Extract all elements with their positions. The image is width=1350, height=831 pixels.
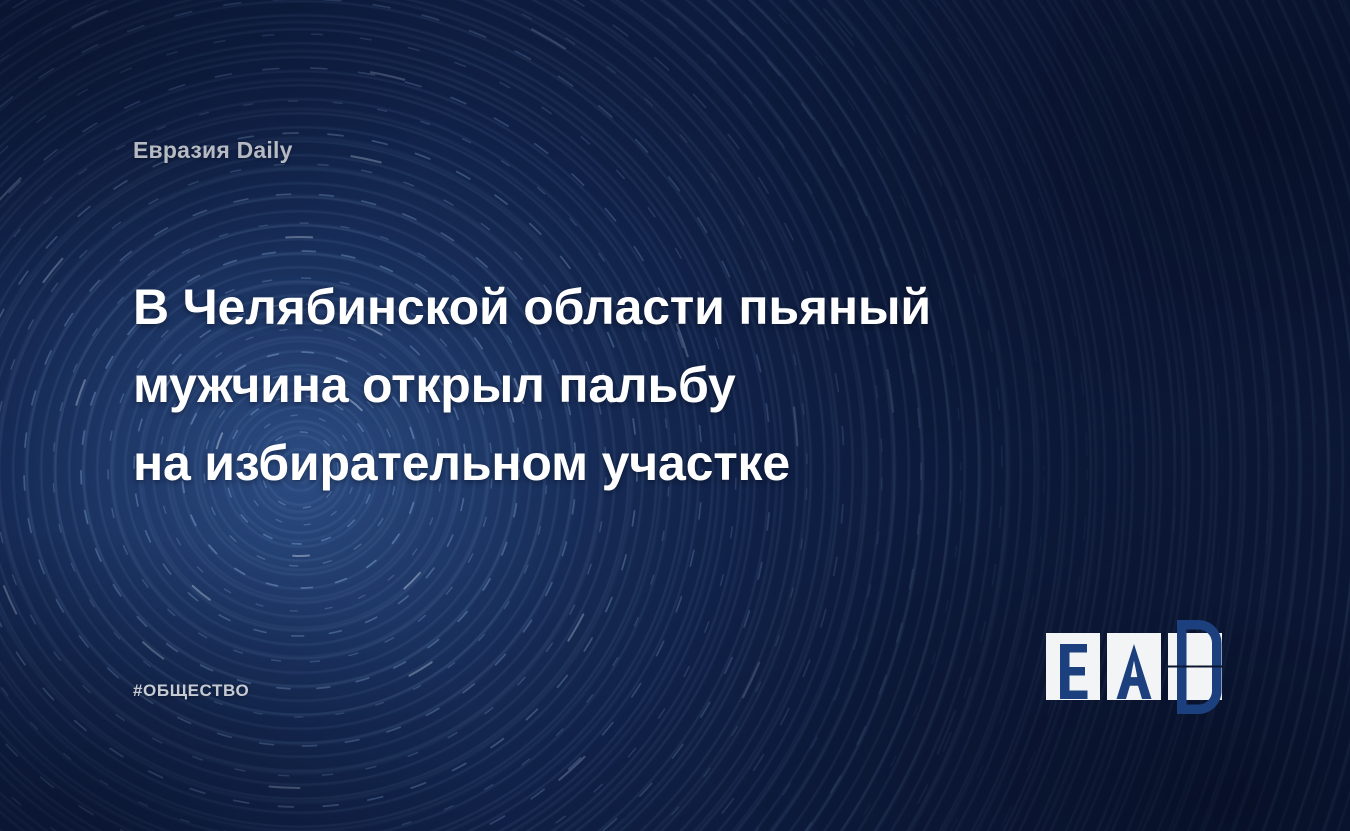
headline: В Челябинской области пьяный мужчина отк… [133,268,1093,502]
category-tag[interactable]: #ОБЩЕСТВО [133,681,249,701]
logo-tile-a [1107,633,1161,700]
logo-alt-text: EADaily [1046,714,1047,715]
headline-line-3: на избирательном участке [133,424,1093,502]
brand-name: Евразия Daily [133,137,293,164]
eadaily-logo: EADaily [1046,620,1222,714]
logo-tile-d [1168,620,1222,714]
headline-line-2: мужчина открыл пальбу [133,346,1093,424]
logo-tile-e [1046,633,1100,700]
headline-line-1: В Челябинской области пьяный [133,268,1093,346]
card-content: Евразия Daily В Челябинской области пьян… [0,0,1350,831]
news-card: Евразия Daily В Челябинской области пьян… [0,0,1350,831]
